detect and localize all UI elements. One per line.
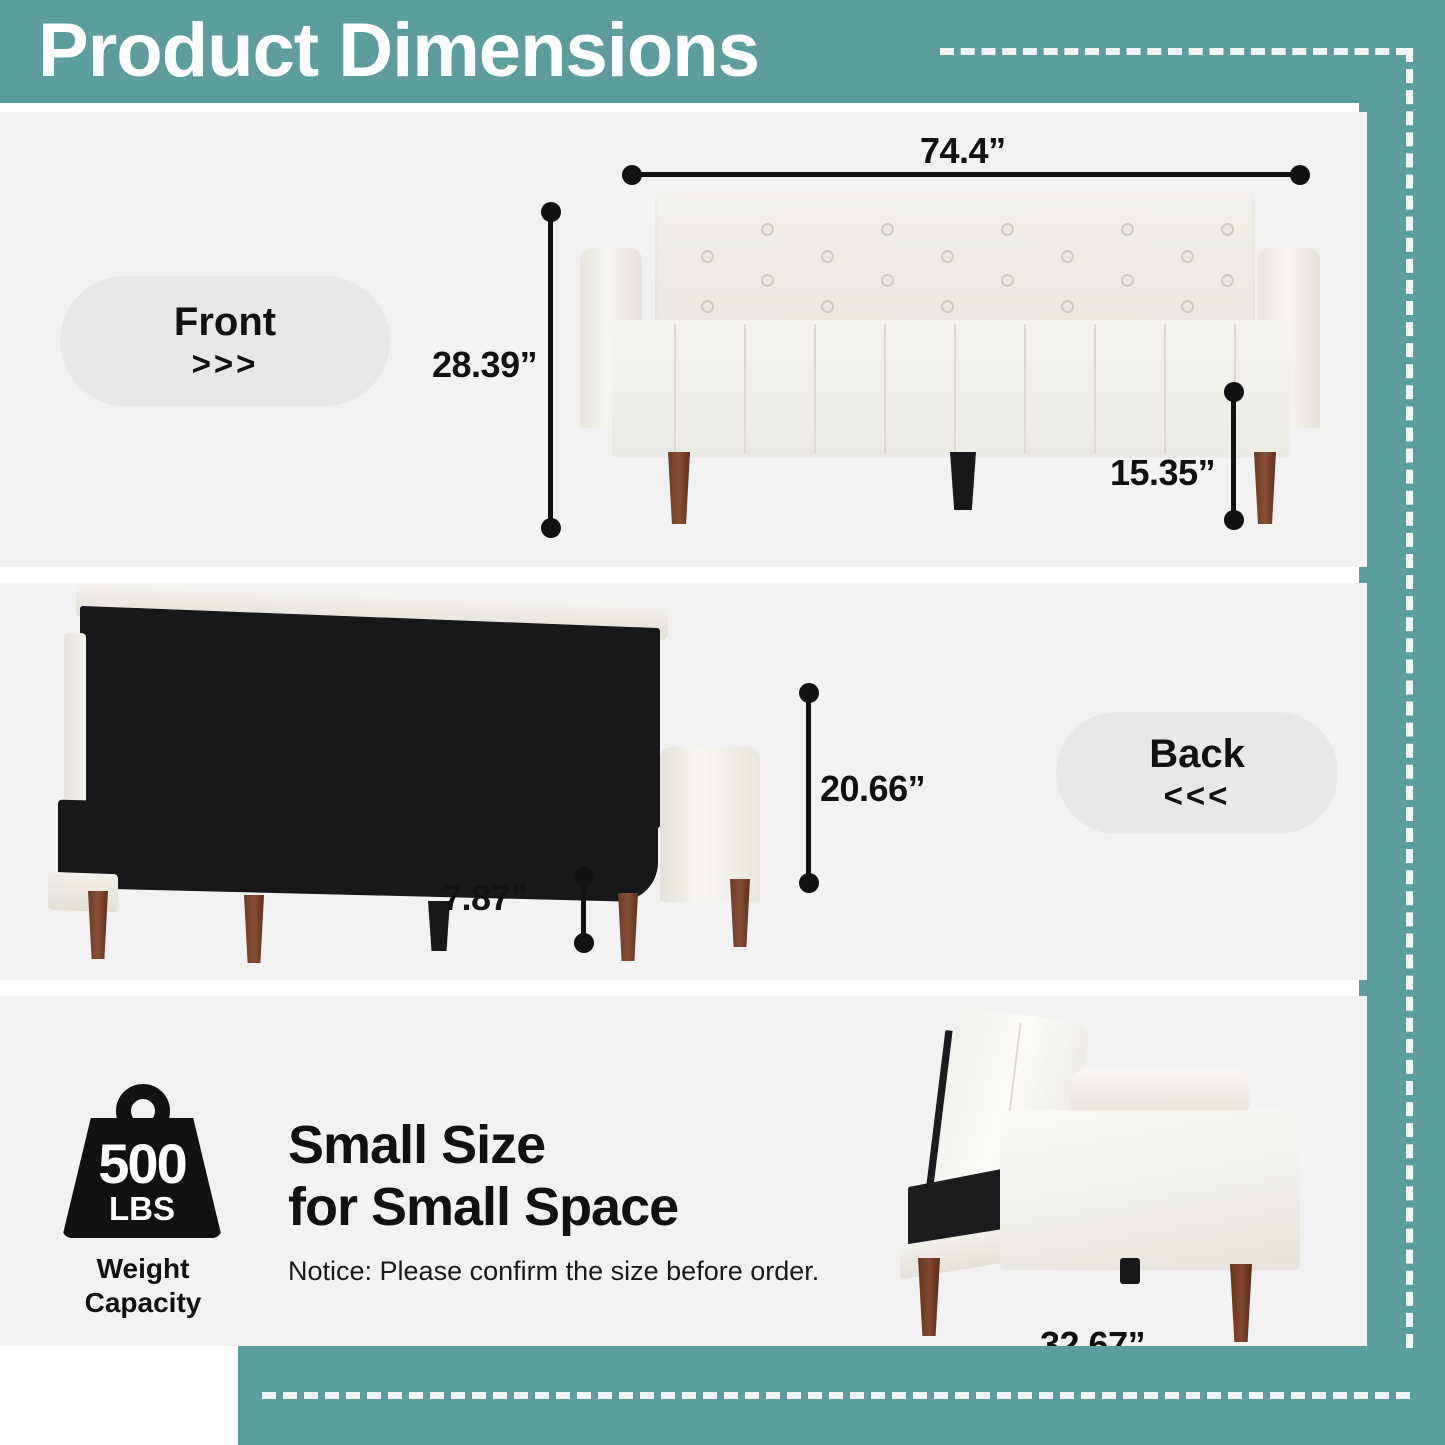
dim-dot-folded-top (799, 683, 819, 703)
dim-dot-height-bottom (541, 518, 561, 538)
dim-dot-height-top (541, 202, 561, 222)
panel-front-view: Front >>> 74.4” 28.39” 15.35” (0, 112, 1367, 567)
dim-dot-leg-top (574, 866, 594, 886)
dim-label-leg-height: 7.87” (442, 877, 528, 919)
dashed-border-right (1406, 48, 1413, 1348)
headline-block: Small Size for Small Space Notice: Pleas… (288, 1114, 888, 1288)
dim-line-folded-height (806, 691, 811, 881)
sofa-side-leg-front (1230, 1264, 1252, 1342)
sofa-side-arm (1000, 1110, 1300, 1270)
sofa-leg-front-right (1254, 452, 1276, 524)
weight-icon: 500 LBS (62, 1084, 222, 1244)
weight-unit: LBS (62, 1192, 222, 1226)
sofa-back-left-edge (64, 633, 86, 815)
badge-back-arrows: <<< (1164, 777, 1231, 815)
weight-amount: 500 (62, 1136, 222, 1192)
sofa-side-leg-center (1120, 1258, 1140, 1284)
sofa-side-leg-back (918, 1258, 940, 1336)
right-teal-band (1359, 0, 1445, 1390)
infographic-stage: Product Dimensions (0, 0, 1445, 1445)
weight-capacity-badge: 500 LBS Weight Capacity (48, 1084, 238, 1334)
sofa-back-leg-1 (88, 891, 108, 959)
dim-label-width: 74.4” (920, 130, 1006, 172)
dim-label-height: 28.39” (432, 344, 537, 386)
dim-label-folded-height: 20.66” (820, 768, 925, 810)
sofa-back-leg-3 (618, 893, 638, 961)
dim-dot-leg-bottom (574, 933, 594, 953)
dim-line-width (632, 172, 1300, 177)
sofa-seat (612, 320, 1290, 458)
sofa-back-illustration (40, 595, 800, 955)
badge-front-arrows: >>> (192, 345, 259, 383)
weight-caption-line1: Weight (48, 1252, 238, 1286)
weight-caption: Weight Capacity (48, 1252, 238, 1320)
panel-back-view: Back <<< 20.66” 7.87” (0, 583, 1367, 980)
dim-dot-width-right (1290, 165, 1310, 185)
dashed-border-top (940, 48, 1410, 55)
badge-front-label: Front (174, 299, 276, 345)
dim-dot-seat-top (1224, 382, 1244, 402)
dim-dot-seat-bottom (1224, 510, 1244, 530)
badge-back-label: Back (1149, 731, 1245, 777)
headline-notice: Notice: Please confirm the size before o… (288, 1254, 888, 1288)
headline-line-1: Small Size (288, 1114, 888, 1176)
sofa-back-leg-4 (730, 879, 750, 947)
dim-dot-folded-bottom (799, 873, 819, 893)
badge-back: Back <<< (1056, 712, 1338, 834)
sofa-back-leg-2 (244, 895, 264, 963)
dim-label-depth: 32.67” (1040, 1324, 1145, 1346)
bottom-teal-band (238, 1337, 1445, 1445)
headline-line-2: for Small Space (288, 1176, 888, 1238)
badge-front: Front >>> (60, 276, 390, 406)
dim-label-seat-height: 15.35” (1110, 452, 1215, 494)
sofa-leg-front-left (668, 452, 690, 524)
sofa-back-seat (58, 800, 658, 903)
sofa-side-top-cushion (1070, 1068, 1250, 1110)
page-title: Product Dimensions (38, 3, 759, 99)
dim-line-height (548, 210, 553, 526)
dim-line-seat-height (1231, 390, 1236, 518)
sofa-back-arm (660, 747, 760, 902)
sofa-side-illustration (880, 1000, 1340, 1346)
sofa-back-panel (80, 606, 660, 828)
dashed-border-bottom (262, 1392, 1410, 1399)
weight-caption-line2: Capacity (48, 1286, 238, 1320)
dim-dot-width-left (622, 165, 642, 185)
sofa-leg-center (950, 452, 976, 510)
panel-side-view: 32.67” 500 LBS Weight Capacity Small Siz… (0, 996, 1367, 1346)
sofa-front-illustration (570, 190, 1330, 535)
